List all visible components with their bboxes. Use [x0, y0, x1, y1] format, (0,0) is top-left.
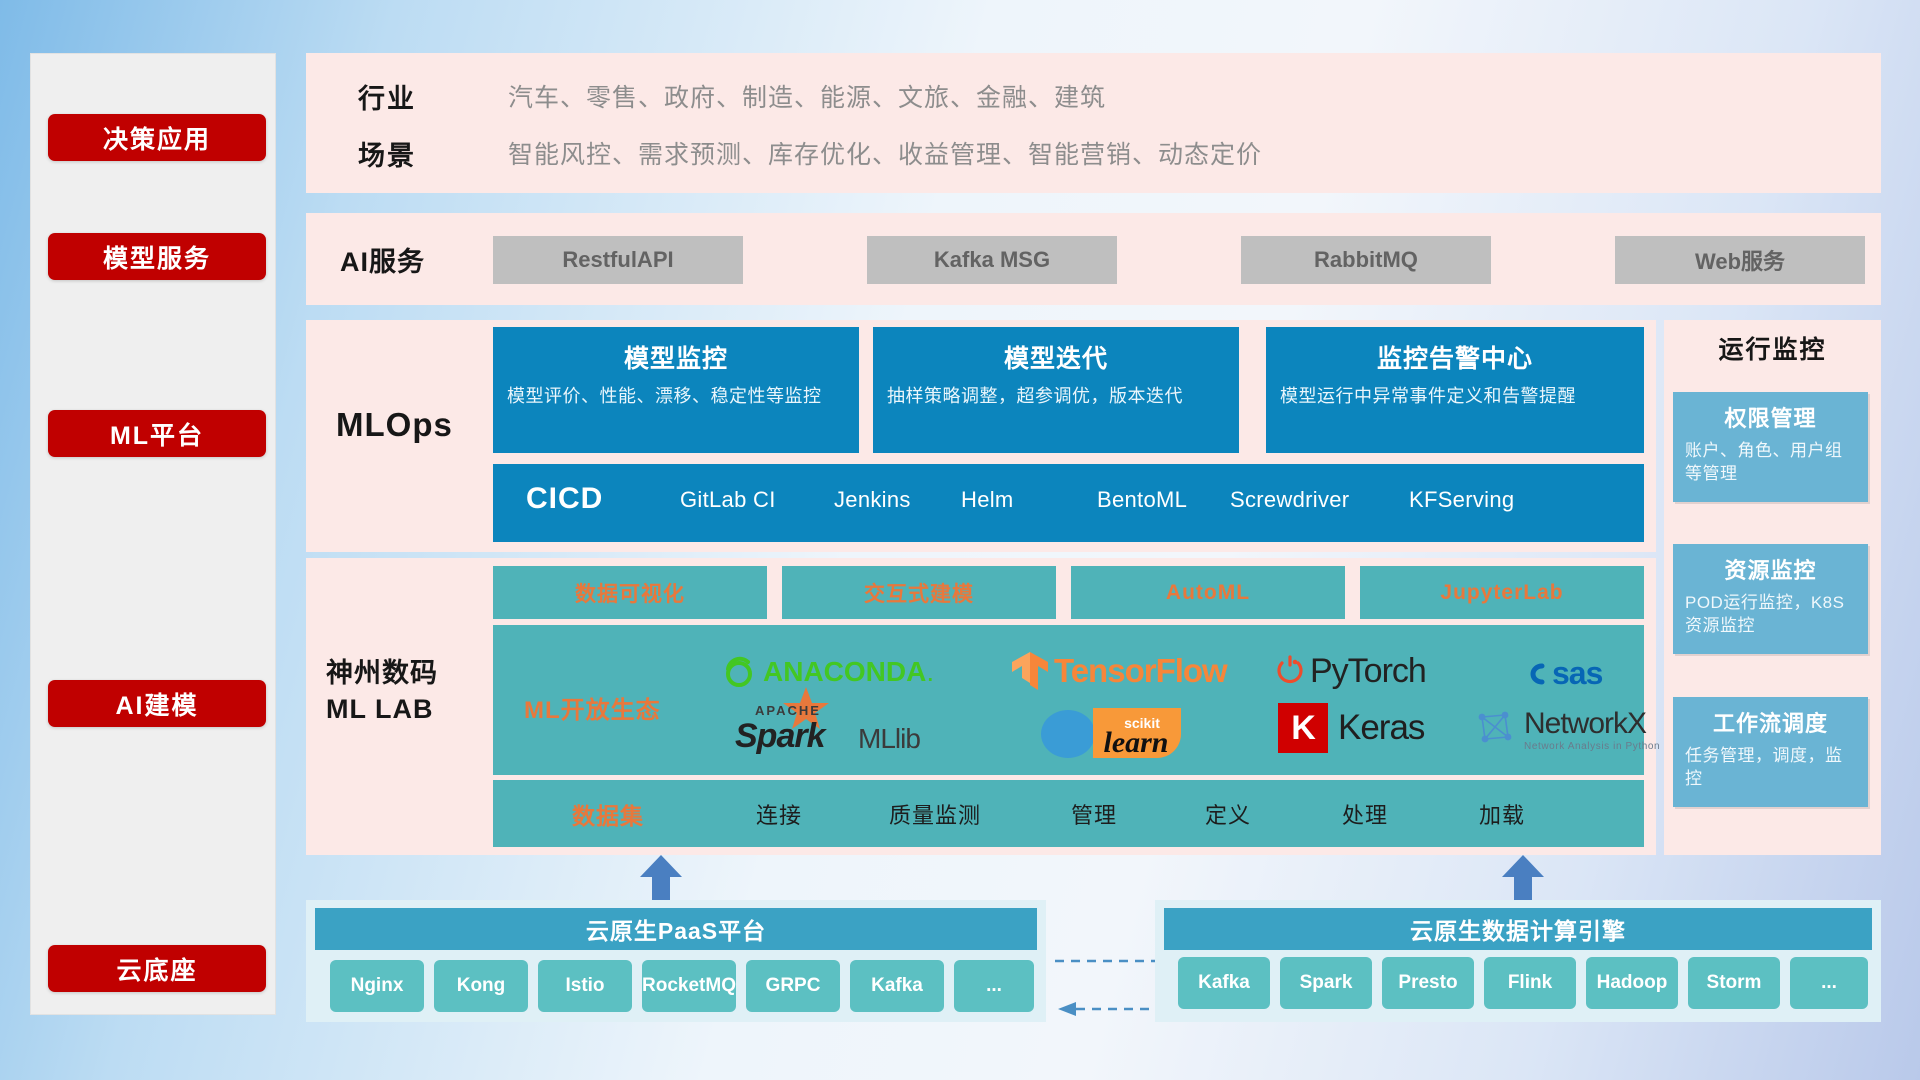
ml-lab-label: 神州数码 ML LAB	[326, 655, 486, 728]
dataset-item-loading[interactable]: 加载	[1479, 798, 1525, 830]
paas-chip-grpc[interactable]: GRPC	[746, 960, 840, 1012]
cicd-bar: CICD GitLab CI Jenkins Helm BentoML Scre…	[493, 464, 1644, 542]
card-title: 资源监控	[1685, 553, 1856, 585]
rail-label: ML平台	[110, 416, 204, 452]
ai-chip-web-service[interactable]: Web服务	[1615, 236, 1865, 284]
networkx-logo: NetworkX Network Analysis in Python	[1472, 706, 1660, 752]
ml-tab-data-visualization[interactable]: 数据可视化	[493, 566, 767, 619]
engine-chip-flink[interactable]: Flink	[1484, 957, 1576, 1009]
scenario-value: 智能风控、需求预测、库存优化、收益管理、智能营销、动态定价	[508, 135, 1262, 171]
dataset-row-head: 数据集	[572, 797, 644, 831]
cicd-item-helm[interactable]: Helm	[961, 486, 1041, 514]
tensorflow-wordmark: TensorFlow	[1054, 652, 1227, 690]
rail-item-decision-app[interactable]: 决策应用	[48, 114, 266, 161]
card-title: 监控告警中心	[1280, 339, 1630, 375]
architecture-diagram: 决策应用 模型服务 ML平台 AI建模 云底座 行业 汽车、零售、政府、制造、能…	[0, 0, 1920, 1080]
card-desc: POD运行监控，K8S资源监控	[1685, 592, 1856, 638]
scikit-learn-logo: scikit learn	[1038, 700, 1208, 762]
keras-wordmark: Keras	[1338, 708, 1424, 748]
industry-key: 行业	[358, 78, 488, 114]
card-title: 权限管理	[1685, 401, 1856, 433]
mlops-card-alert-center[interactable]: 监控告警中心 模型运行中异常事件定义和告警提醒	[1266, 327, 1644, 453]
monitoring-card-workflow[interactable]: 工作流调度 任务管理，调度，监控	[1673, 697, 1868, 807]
spark-wordmark: Spark	[735, 717, 825, 756]
ai-service-label: AI服务	[340, 237, 490, 281]
monitoring-title: 运行监控	[1664, 330, 1881, 366]
mlops-card-model-monitoring[interactable]: 模型监控 模型评价、性能、漂移、稳定性等监控	[493, 327, 859, 453]
paas-chip-istio[interactable]: Istio	[538, 960, 632, 1012]
pytorch-wordmark: PyTorch	[1310, 652, 1426, 691]
top-section-band	[306, 53, 1881, 193]
card-title: 工作流调度	[1685, 706, 1856, 738]
dataset-item-processing[interactable]: 处理	[1342, 798, 1388, 830]
rail-label: 模型服务	[103, 239, 211, 275]
tensorflow-mark-icon	[1010, 650, 1050, 692]
ml-tab-automl[interactable]: AutoML	[1071, 566, 1345, 619]
keras-logo: K Keras	[1278, 703, 1424, 753]
monitoring-card-resource[interactable]: 资源监控 POD运行监控，K8S资源监控	[1673, 544, 1868, 654]
ai-chip-kafka-msg[interactable]: Kafka MSG	[867, 236, 1117, 284]
dataset-item-quality-monitoring[interactable]: 质量监测	[889, 798, 981, 830]
engine-chip-spark[interactable]: Spark	[1280, 957, 1372, 1009]
card-desc: 账户、角色、用户组等管理	[1685, 440, 1856, 486]
mlops-label: MLOps	[336, 400, 506, 450]
rail-item-ai-modeling[interactable]: AI建模	[48, 680, 266, 727]
ml-eco-label: ML开放生态	[524, 690, 661, 725]
cicd-head: CICD	[526, 482, 603, 516]
engine-chip-storm[interactable]: Storm	[1688, 957, 1780, 1009]
ml-tab-jupyterlab[interactable]: JupyterLab	[1360, 566, 1644, 619]
scenario-key: 场景	[358, 135, 488, 171]
rail-label: 云底座	[116, 951, 197, 987]
card-desc: 抽样策略调整，超参调优，版本迭代	[887, 384, 1225, 408]
cicd-item-kfserving[interactable]: KFServing	[1409, 486, 1503, 514]
paas-chip-nginx[interactable]: Nginx	[330, 960, 424, 1012]
paas-chip-rocketmq[interactable]: RocketMQ	[642, 960, 736, 1012]
cicd-item-jenkins[interactable]: Jenkins	[834, 486, 906, 514]
industry-value: 汽车、零售、政府、制造、能源、文旅、金融、建筑	[508, 78, 1106, 114]
mlops-card-model-iteration[interactable]: 模型迭代 抽样策略调整，超参调优，版本迭代	[873, 327, 1239, 453]
card-desc: 模型运行中异常事件定义和告警提醒	[1280, 384, 1630, 408]
networkx-wordmark: NetworkX	[1524, 707, 1660, 741]
card-title: 模型监控	[507, 339, 845, 375]
rail-label: AI建模	[115, 686, 198, 722]
engine-chip-more[interactable]: ...	[1790, 957, 1868, 1009]
anaconda-mark-icon	[722, 655, 756, 689]
cicd-item-bentoml[interactable]: BentoML	[1097, 486, 1187, 514]
data-engine-head: 云原生数据计算引擎	[1164, 908, 1872, 950]
dataset-item-management[interactable]: 管理	[1071, 798, 1117, 830]
ml-tab-interactive-modeling[interactable]: 交互式建模	[782, 566, 1056, 619]
mllib-wordmark: MLlib	[858, 723, 920, 755]
ml-lab-label-line2: ML LAB	[326, 691, 486, 727]
sas-wordmark: sas	[1552, 655, 1602, 692]
card-desc: 模型评价、性能、漂移、稳定性等监控	[507, 384, 845, 408]
ml-lab-label-line1: 神州数码	[326, 655, 486, 691]
rail-label: 决策应用	[103, 120, 211, 156]
ai-chip-restfulapi[interactable]: RestfulAPI	[493, 236, 743, 284]
rail-item-model-service[interactable]: 模型服务	[48, 233, 266, 280]
engine-chip-hadoop[interactable]: Hadoop	[1586, 957, 1678, 1009]
paas-chip-kafka[interactable]: Kafka	[850, 960, 944, 1012]
dataset-item-definition[interactable]: 定义	[1205, 798, 1251, 830]
cicd-item-screwdriver[interactable]: Screwdriver	[1230, 486, 1328, 514]
paas-platform-head: 云原生PaaS平台	[315, 908, 1037, 950]
scikit-learn-mark-icon: scikit learn	[1038, 700, 1208, 762]
pytorch-logo: PyTorch	[1275, 652, 1426, 691]
engine-chip-kafka[interactable]: Kafka	[1178, 957, 1270, 1009]
card-title: 模型迭代	[887, 339, 1225, 375]
tensorflow-logo: TensorFlow	[1010, 650, 1227, 692]
svg-text:learn: learn	[1103, 726, 1168, 759]
paas-chip-kong[interactable]: Kong	[434, 960, 528, 1012]
left-rail	[30, 53, 276, 1015]
dataset-item-connect[interactable]: 连接	[756, 798, 802, 830]
monitoring-card-permission[interactable]: 权限管理 账户、角色、用户组等管理	[1673, 392, 1868, 502]
cicd-item-gitlab-ci[interactable]: GitLab CI	[680, 486, 800, 514]
keras-mark-icon: K	[1278, 703, 1328, 753]
engine-chip-presto[interactable]: Presto	[1382, 957, 1474, 1009]
sas-logo: sas	[1520, 655, 1602, 692]
ai-chip-rabbitmq[interactable]: RabbitMQ	[1241, 236, 1491, 284]
sas-mark-icon	[1520, 659, 1550, 689]
spark-apache-text: APACHE	[755, 703, 821, 718]
rail-item-cloud-base[interactable]: 云底座	[48, 945, 266, 992]
networkx-tagline: Network Analysis in Python	[1524, 741, 1660, 752]
pytorch-mark-icon	[1275, 654, 1305, 690]
paas-chip-more[interactable]: ...	[954, 960, 1034, 1012]
networkx-mark-icon	[1472, 706, 1518, 752]
keras-k-letter: K	[1291, 709, 1315, 748]
rail-item-ml-platform[interactable]: ML平台	[48, 410, 266, 457]
card-desc: 任务管理，调度，监控	[1685, 745, 1856, 791]
dataset-row: 数据集 连接 质量监测 管理 定义 处理 加载	[493, 780, 1644, 847]
